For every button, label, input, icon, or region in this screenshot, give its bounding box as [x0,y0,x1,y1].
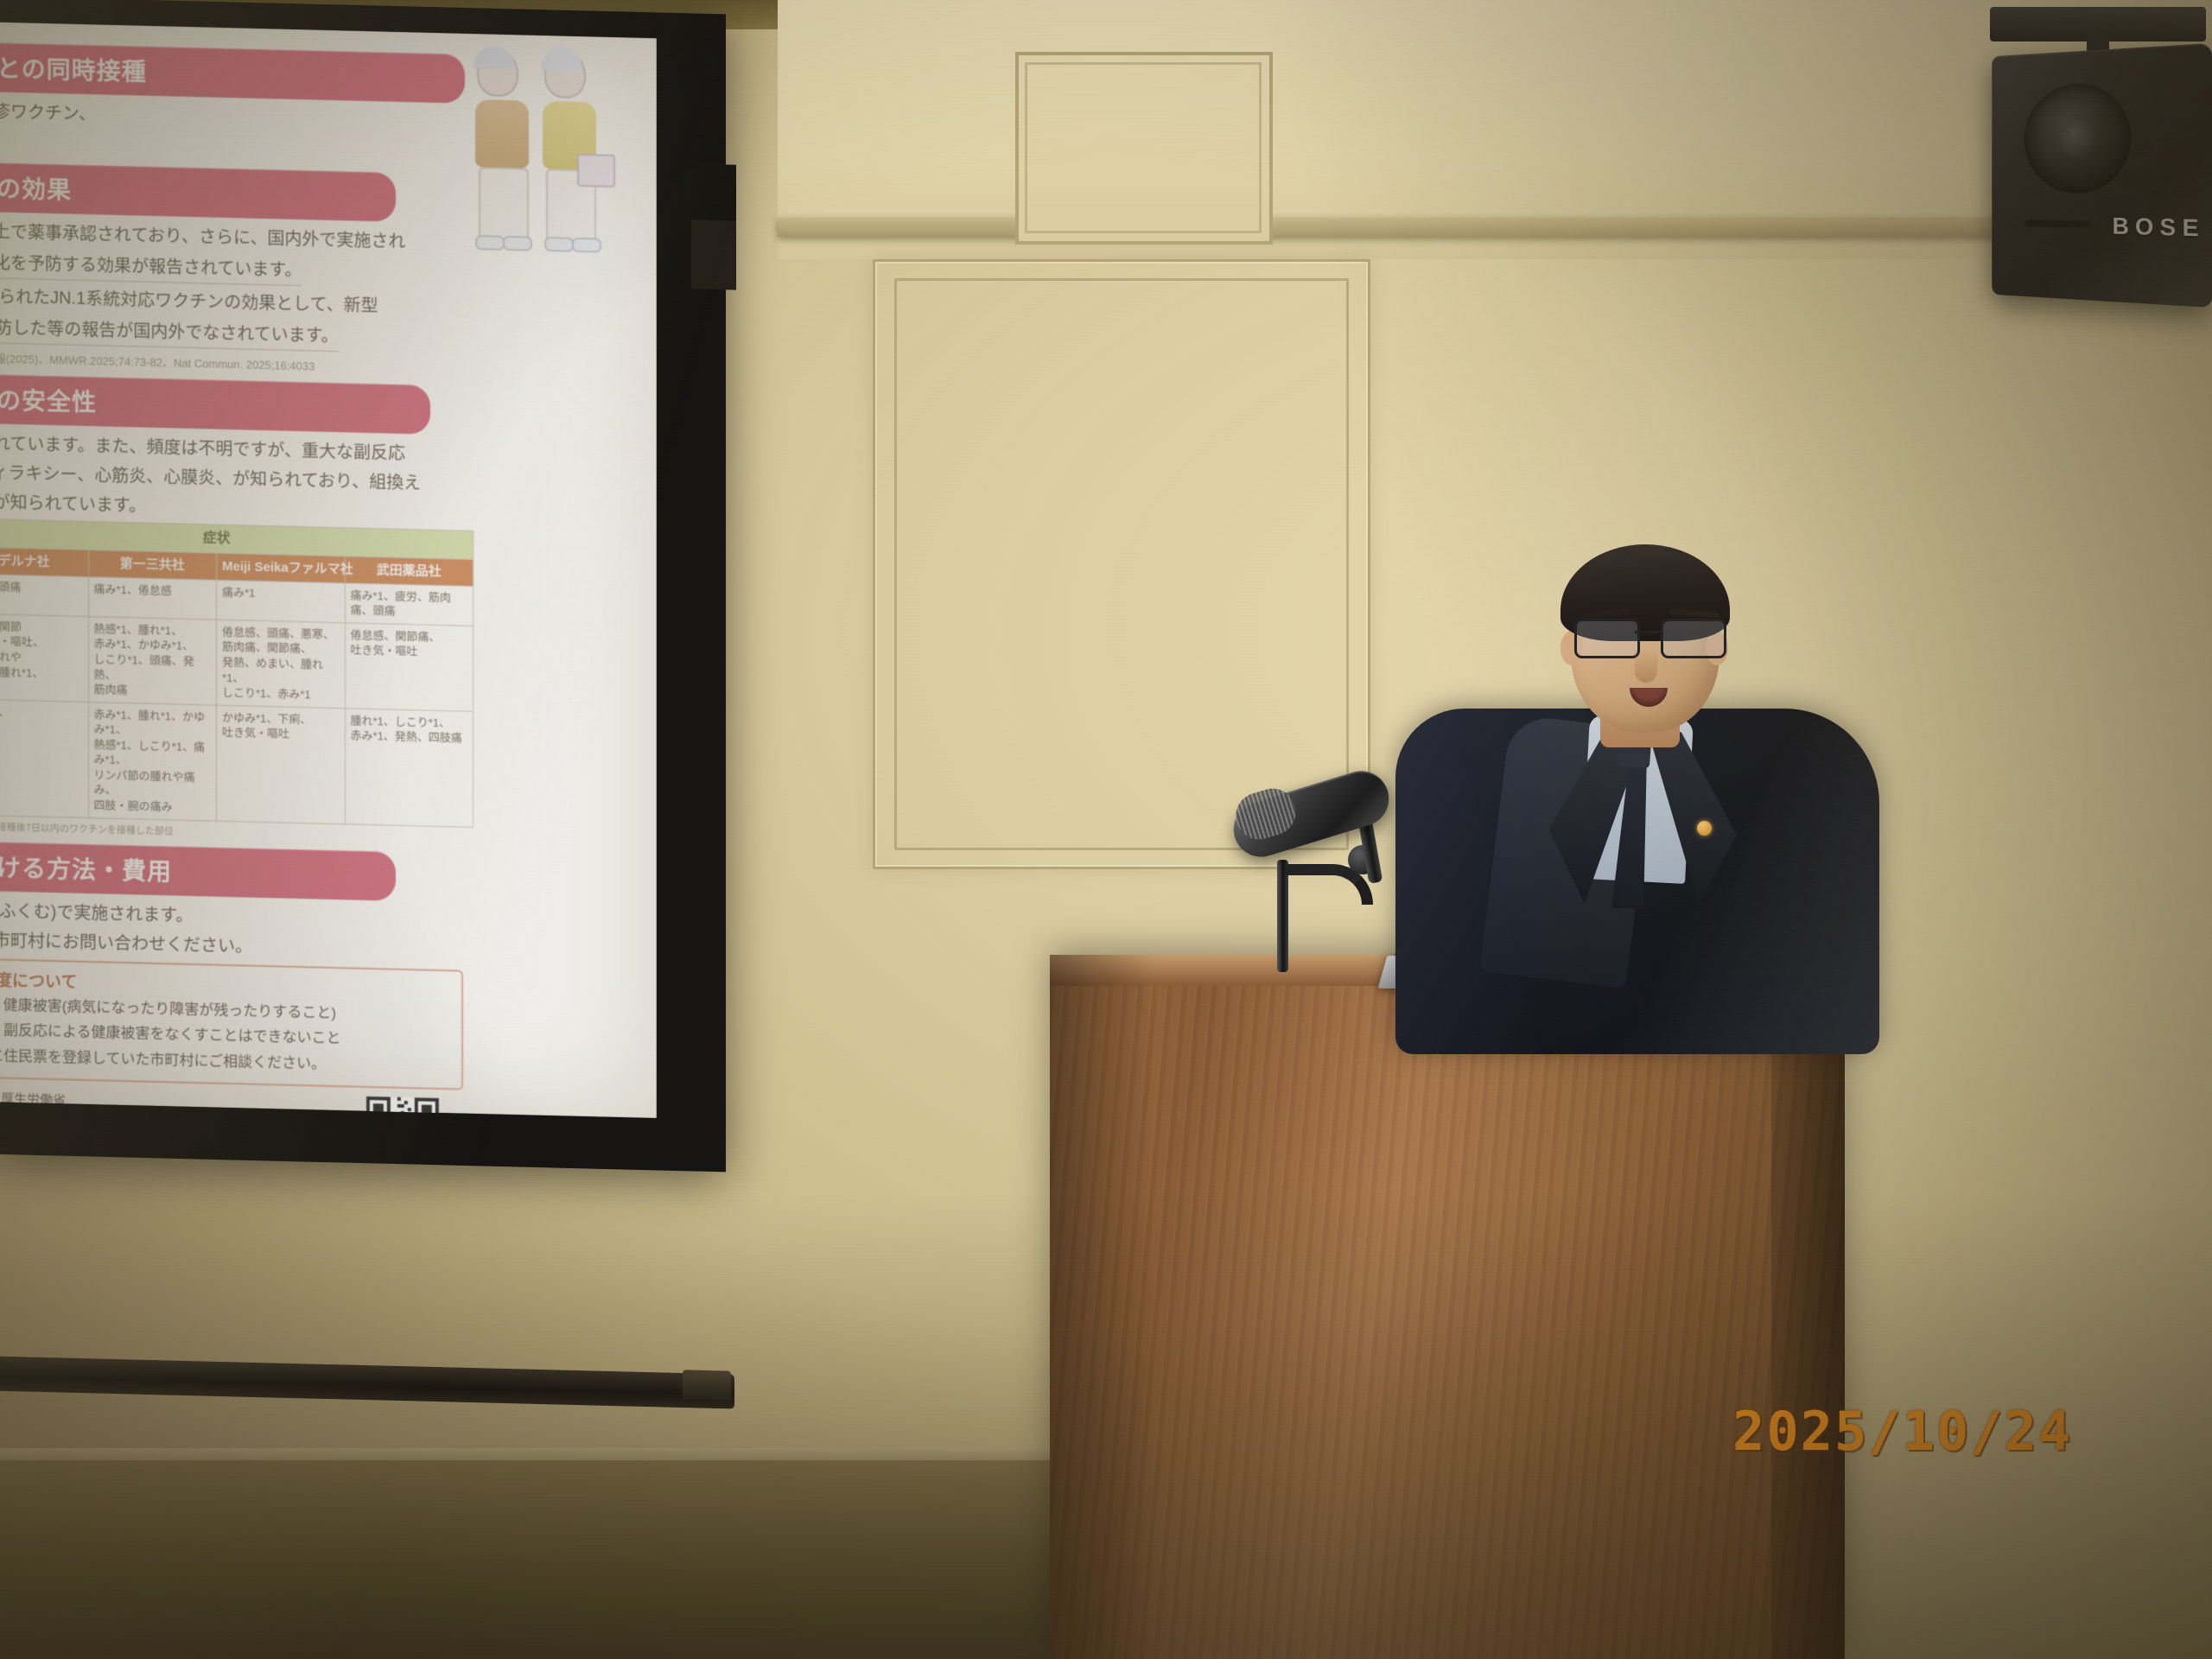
table-col-meiji-seika: Meiji Seikaファルマ社 [217,553,346,583]
table-cell: 悪寒、関節 吐き気・嘔吐、 部の腫れや 発熱、腫れ*1、 赤み*1 [0,613,88,702]
podium-wood-grain [1050,955,1845,1659]
table-cell: 赤み*1、腫れ*1、かゆみ*1、 熱感*1、しこり*1、痛み*1、 リンパ節の腫… [88,702,217,820]
floor [0,1460,1080,1659]
podium-left-shadow [1050,955,1154,1659]
podium-right-edge [1771,955,1845,1659]
table-cell: かゆみ*1、下痢、 吐き気・嘔吐 [217,705,346,823]
speaker-port-slot [2024,218,2093,228]
slide-text: 45〜70%程度予防した等の報告が国内外でなされています。 [0,312,339,352]
screen-mount-bracket-inner [691,219,736,289]
health-damage-relief-box: 健康被害救済制度について 全なものですが、健康被害(病気になったり障害が残ったり… [0,955,463,1090]
table-col-takeda: 武田薬品社 [345,556,474,586]
slide-text: 入院などの重症化を予防する効果が報告されています。 [0,247,302,286]
table-row: 悪寒、関節 吐き気・嘔吐、 部の腫れや 発熱、腫れ*1、 赤み*1 熱感*1、腫… [0,611,474,711]
table-row: 腫れ*1、 赤み*1、腫れ*1、かゆみ*1、 熱感*1、しこり*1、痛み*1、 … [0,696,474,827]
table-cell: 倦怠感、頭痛、悪寒、 筋肉痛、関節痛、 発熱、めまい、腫れ*1、 しこり*1、赤… [217,620,346,708]
wall-speaker: BOSE [1983,7,2212,348]
lapel-pin-icon [1697,821,1712,836]
slide-heading-method-and-cost: 接種を受ける方法・費用 [0,838,396,900]
screen-roller-endcap [683,1370,731,1400]
table-cell: 腫れ*1、 [0,699,88,817]
wall-door-inner-moulding [1025,62,1262,233]
eyeglass-bridge [1635,631,1662,633]
slide-heading-simultaneous-vaccination: ワクチンとの同時接種 [0,40,465,104]
table-cell: み*1、頭痛 [0,574,88,617]
table-col-moderna: デルナ社 [0,547,88,577]
table-cell: 腫れ*1、しこり*1、 赤み*1、発熱、四肢痛 [345,708,474,826]
nose [1635,650,1657,683]
slide-heading-vaccine-safety: ワクチンの安全性 [0,372,430,435]
projected-slide: ワクチンとの同時接種 クチンや帯状疱疹ワクチン、 接種が可能です。 ワクチンの効… [0,21,657,1118]
slide-heading-vaccine-effect: ワクチンの効果 [0,160,396,222]
camera-date-stamp: 2025/10/24 [1732,1400,2072,1463]
table-cell: 倦怠感、関節痛、 吐き気・嘔吐 [345,623,474,711]
bose-logo: BOSE [2113,213,2206,243]
screen-roller-case [0,1356,734,1408]
eyeglass-lens-right [1661,619,1726,658]
speaker-driver-cone [2024,81,2132,194]
photo-scene: ワクチンとの同時接種 クチンや帯状疱疹ワクチン、 接種が可能です。 ワクチンの効… [0,0,2212,1659]
podium [1050,955,1845,1659]
table-cell: 痛み*1、疲労、筋肉痛、頭痛 [345,583,474,626]
elderly-couple-illustration [467,46,622,248]
table-cell: 熱感*1、腫れ*1、 赤み*1、かゆみ*1、 しこり*1、頭痛、発熱、 筋肉痛 [88,616,217,704]
table-col-daiichi-sankyo: 第一三共社 [88,550,217,580]
presenter [1365,536,1901,1037]
table-cell: 痛み*1、倦怠感 [88,576,217,620]
eyeglass-lens-left [1574,619,1640,658]
wall-panel-inner [894,278,1349,850]
side-effect-table: 症状 デルナ社 第一三共社 Meiji Seikaファルマ社 武田薬品社 み*1… [0,516,474,828]
table-cell: 痛み*1 [217,580,346,623]
speaker-cabinet: BOSE [1992,43,2212,308]
